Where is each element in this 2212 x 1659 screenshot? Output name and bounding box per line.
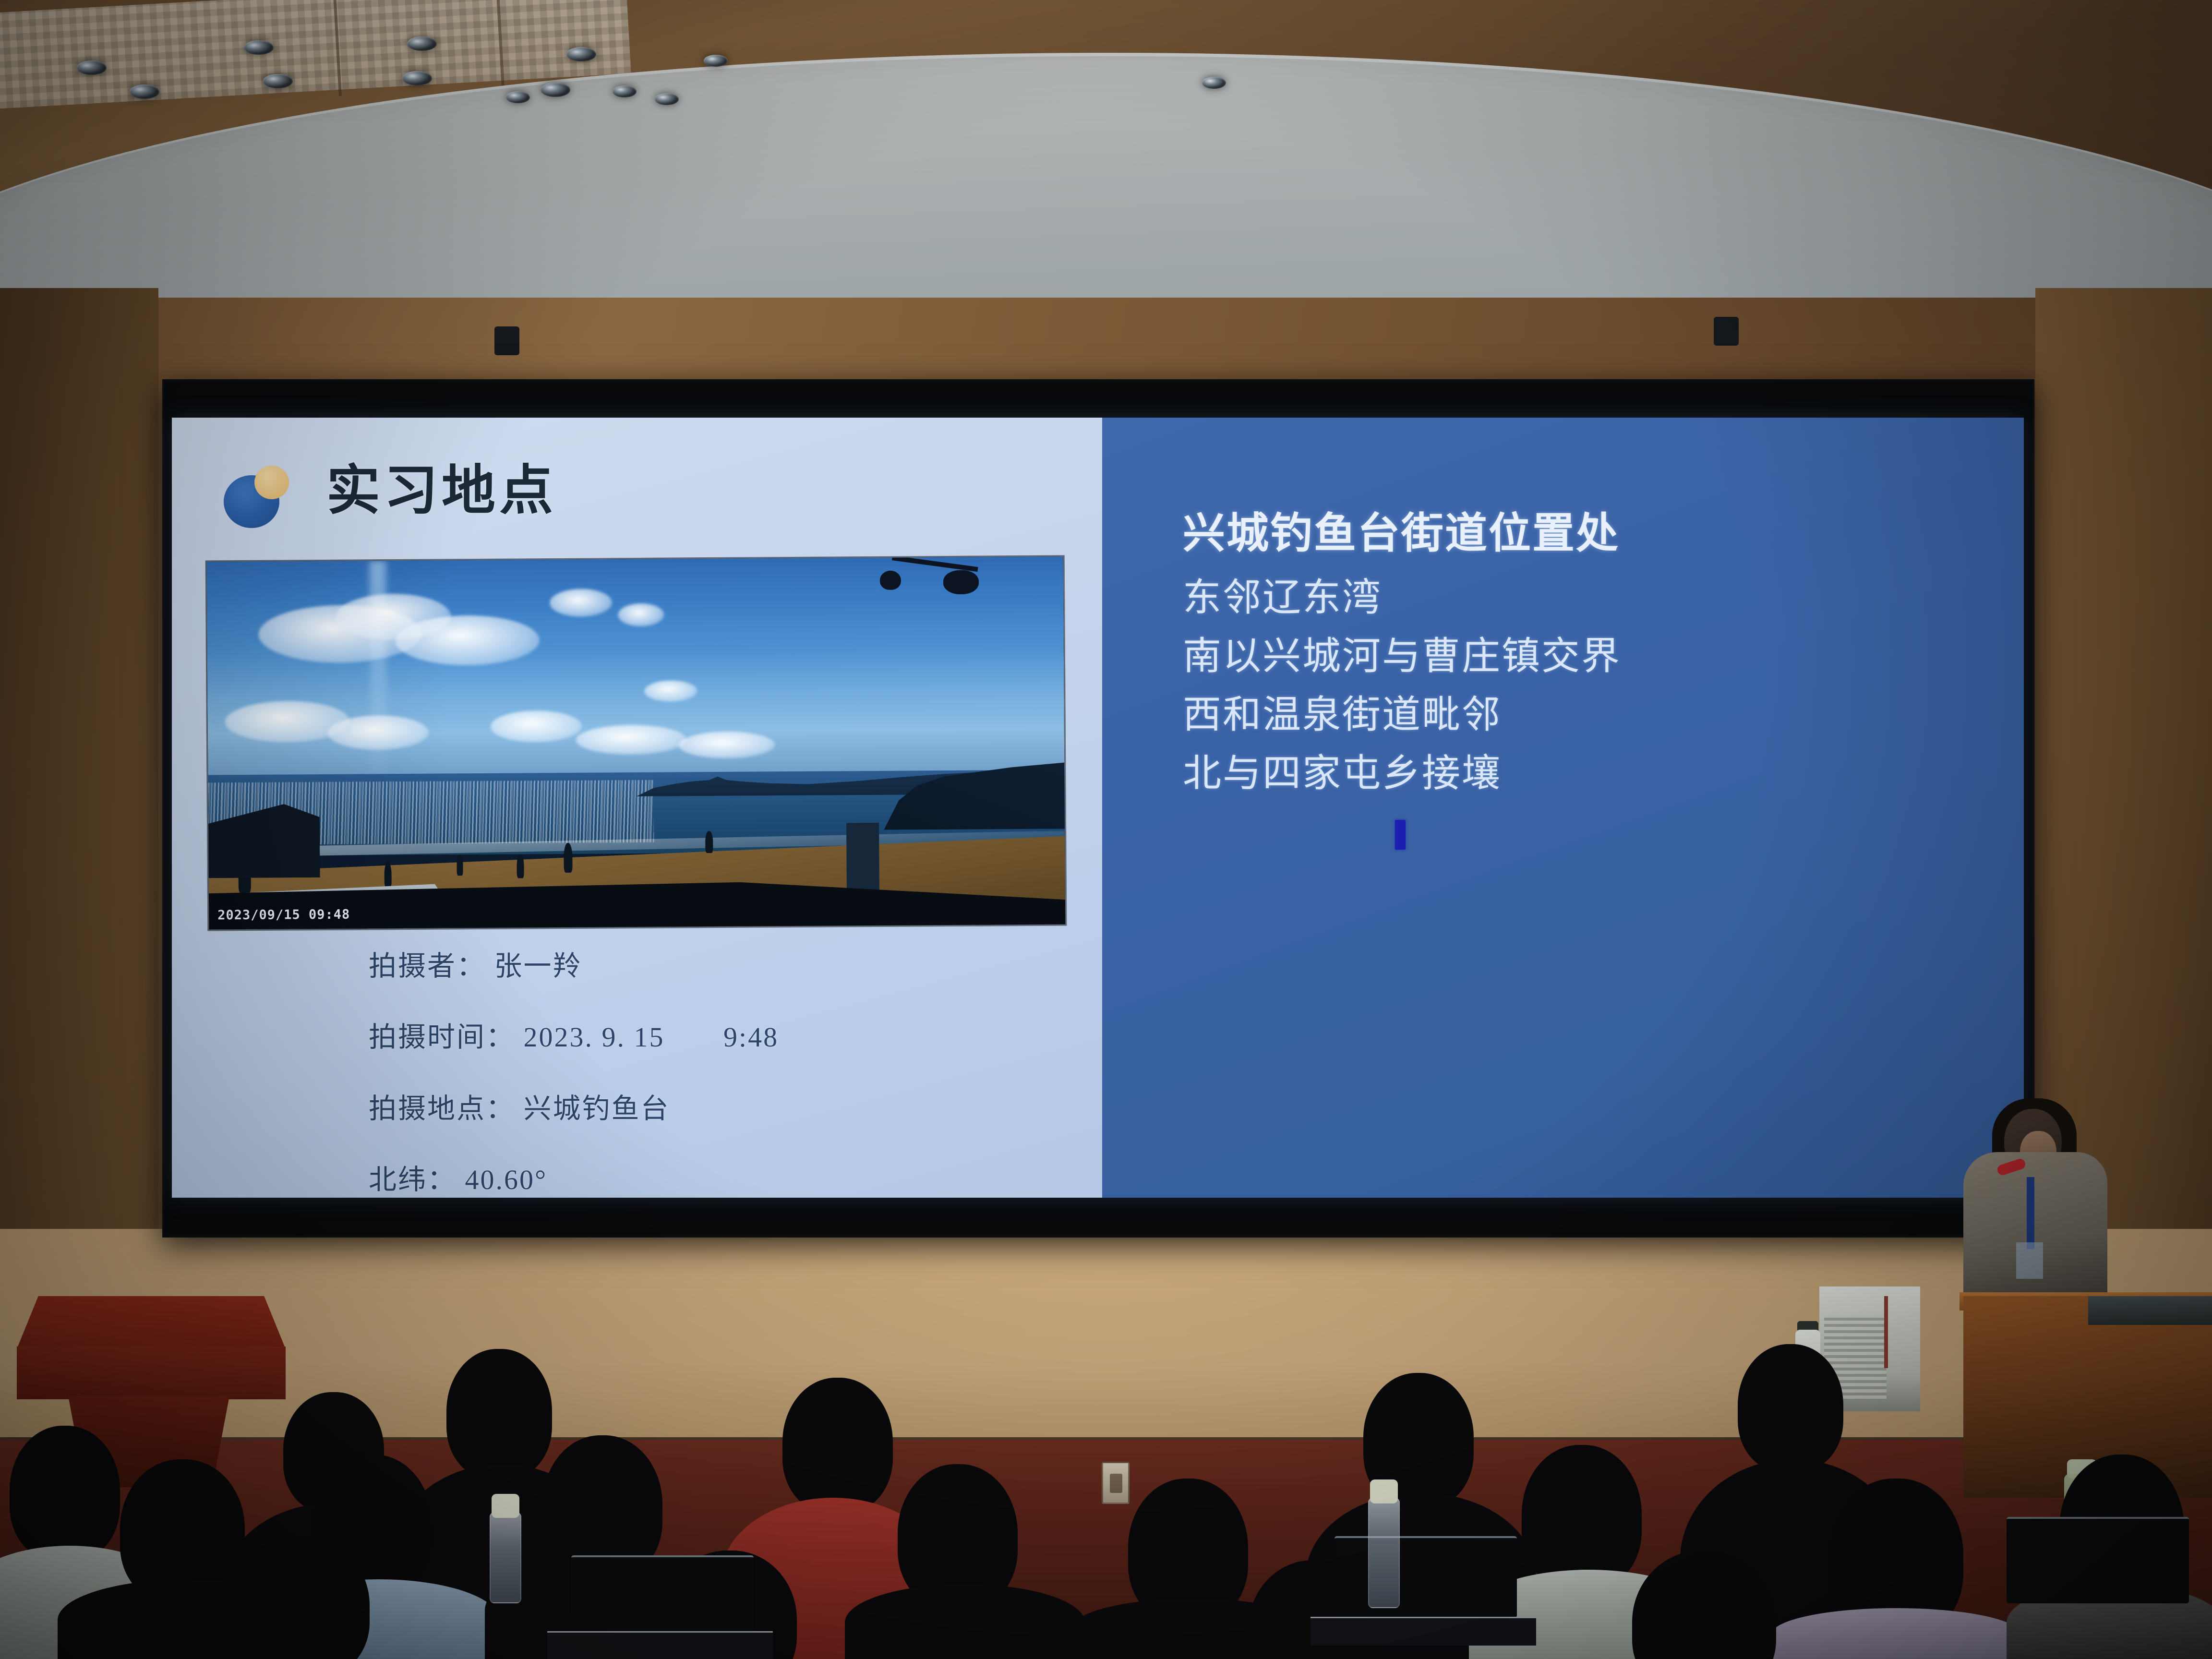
text-cursor-caret[interactable]	[1395, 820, 1406, 850]
right-panel-line-north: 北与四家屯乡接壤	[1183, 742, 1502, 798]
slide-left-panel: 实习地点	[172, 418, 1102, 1198]
water-bottle	[1368, 1498, 1400, 1608]
laptop-screen[interactable]	[1334, 1536, 1517, 1618]
audience-shoulders	[845, 1584, 1085, 1659]
photo-cloud	[327, 715, 428, 750]
right-panel-line-west: 西和温泉街道毗邻	[1183, 684, 1502, 739]
photo-cloud	[644, 680, 697, 702]
left-podium-body	[17, 1346, 286, 1399]
downlight-icon	[263, 74, 293, 88]
photo-street-lamp-icon	[943, 570, 979, 594]
photo-person	[384, 862, 391, 887]
water-bottle	[490, 1512, 521, 1603]
photo-person	[457, 854, 463, 876]
right-panel-line-south: 南以兴城河与曹庄镇交界	[1183, 625, 1621, 681]
caption-line-latitude: 北纬： 40.60°	[369, 1164, 547, 1195]
slide-right-panel: 兴城钓鱼台街道位置处 东邻辽东湾 南以兴城河与曹庄镇交界 西和温泉街道毗邻 北与…	[1102, 418, 2024, 1198]
ceiling-sensor-icon	[1714, 317, 1739, 346]
slide-title: 实习地点	[326, 464, 557, 517]
left-podium-top	[17, 1296, 286, 1349]
downlight-icon	[541, 83, 570, 97]
left-wall-column	[0, 288, 158, 1392]
downlight-icon	[704, 55, 728, 67]
beach-photo: 2023/09/15 09:48	[205, 555, 1067, 931]
downlight-icon	[130, 84, 159, 99]
presenter-badge	[2016, 1242, 2043, 1279]
logo-yellow-circle-icon	[254, 466, 289, 499]
photo-signboard	[846, 822, 879, 894]
audience-head	[1522, 1445, 1642, 1589]
side-desk	[2088, 1296, 2212, 1325]
downlight-icon	[506, 91, 530, 103]
laptop-keyboard[interactable]	[547, 1631, 773, 1659]
audience-head	[782, 1378, 893, 1512]
audience-shoulders	[1771, 1608, 2021, 1659]
photo-person	[517, 854, 524, 878]
slide-logo	[224, 466, 301, 528]
caption-line-photographer: 拍摄者： 张一羚	[369, 950, 582, 982]
presentation-slide: 实习地点	[172, 418, 2024, 1198]
red-cable	[1884, 1296, 1888, 1368]
photo-caption-block: 拍摄者： 张一羚 拍摄时间： 2023. 9. 15 9:48 拍摄地点： 兴城…	[369, 949, 779, 1198]
downlight-icon	[244, 40, 274, 55]
downlight-icon	[655, 93, 679, 105]
audience-head	[1738, 1344, 1843, 1471]
downlight-icon	[77, 60, 107, 75]
ceiling-sensor-icon	[494, 326, 519, 355]
right-panel-line-east: 东邻辽东湾	[1183, 566, 1382, 622]
right-panel-heading: 兴城钓鱼台街道位置处	[1183, 499, 1620, 560]
photo-street-lamp-icon	[880, 570, 901, 589]
laptop-screen[interactable]	[571, 1555, 754, 1632]
caption-line-time: 拍摄时间： 2023. 9. 15 9:48	[369, 1022, 779, 1053]
audience-head	[446, 1349, 552, 1479]
photo-person	[705, 831, 713, 853]
downlight-icon	[613, 85, 637, 97]
water-bottle-cap	[492, 1494, 519, 1518]
downlight-icon	[1202, 77, 1226, 89]
presenter-body	[1963, 1152, 2107, 1310]
laptop-keyboard[interactable]	[1310, 1617, 1536, 1646]
lecture-hall-scene: 实习地点	[0, 0, 2212, 1659]
downlight-icon	[402, 71, 432, 85]
power-outlet	[1102, 1462, 1130, 1504]
caption-line-place: 拍摄地点： 兴城钓鱼台	[369, 1093, 670, 1124]
photo-timestamp-watermark: 2023/09/15 09:48	[217, 907, 350, 923]
projection-screen[interactable]: 实习地点	[172, 418, 2024, 1198]
laptop-screen[interactable]	[2007, 1517, 2189, 1603]
downlight-icon	[566, 47, 596, 61]
presenter-lanyard	[2027, 1177, 2034, 1249]
downlight-icon	[407, 36, 437, 51]
audience-head	[10, 1426, 120, 1560]
water-bottle-cap	[1370, 1479, 1398, 1503]
